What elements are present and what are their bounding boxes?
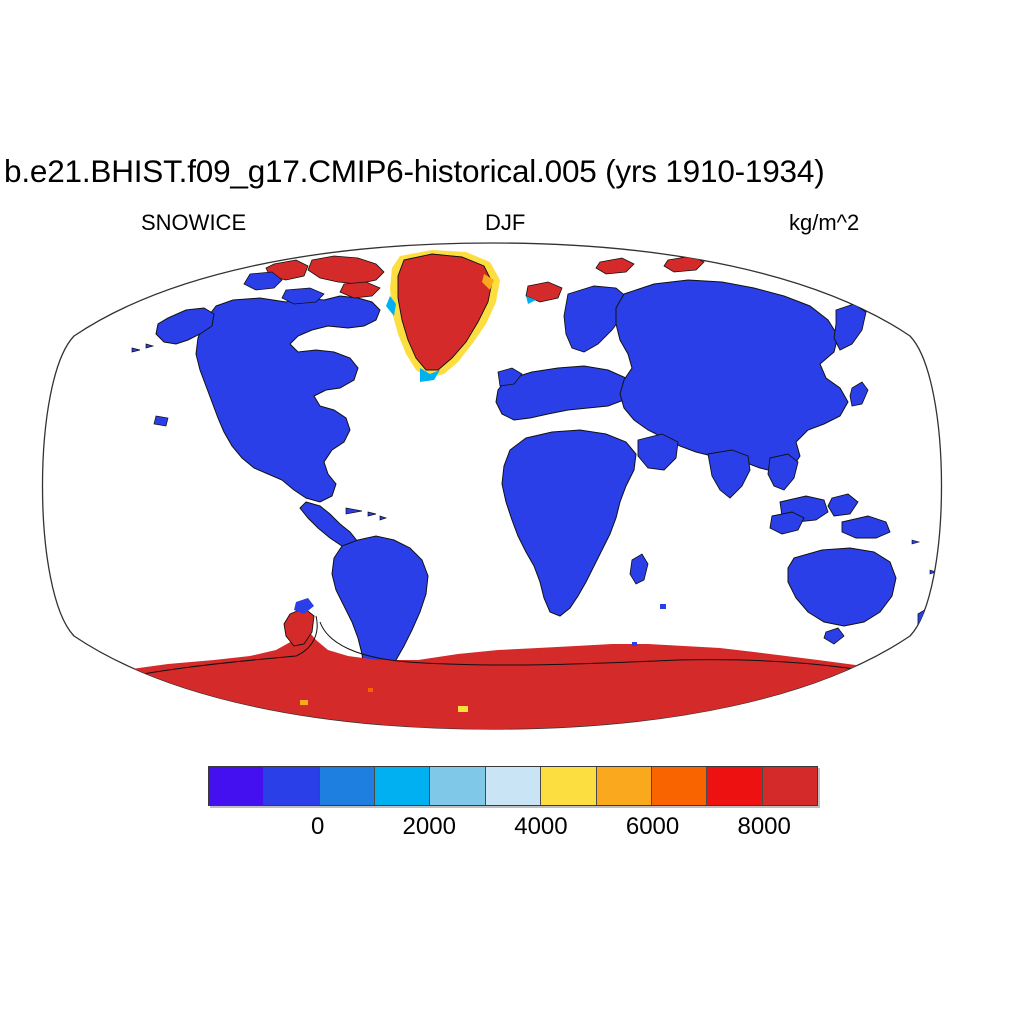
figure-root: b.e21.BHIST.f09_g17.CMIP6-historical.005… xyxy=(0,0,1024,1024)
colorbar-cell-7[interactable] xyxy=(597,767,652,805)
colorbar-cell-3[interactable] xyxy=(375,767,430,805)
colorbar-cell-4[interactable] xyxy=(430,767,485,805)
colorbar-tick-labels: 02000400060008000 xyxy=(206,812,820,846)
colorbar-tick-2: 4000 xyxy=(514,812,567,842)
colorbar-cell-0[interactable] xyxy=(209,767,264,805)
colorbar-cell-2[interactable] xyxy=(320,767,375,805)
colorbar-cell-9[interactable] xyxy=(707,767,762,805)
colorbar-tick-1: 2000 xyxy=(403,812,456,842)
world-map xyxy=(28,240,956,732)
colorbar-tick-0: 0 xyxy=(311,812,324,842)
colorbar-cell-6[interactable] xyxy=(541,767,596,805)
colorbar-cell-5[interactable] xyxy=(486,767,541,805)
colorbar-cell-8[interactable] xyxy=(652,767,707,805)
map-canvas xyxy=(28,240,956,732)
colorbar-cells[interactable] xyxy=(208,766,818,806)
units-label: kg/m^2 xyxy=(789,210,859,236)
season-label: DJF xyxy=(485,210,525,236)
colorbar-cell-10[interactable] xyxy=(763,767,817,805)
colorbar xyxy=(206,764,820,808)
variable-label: SNOWICE xyxy=(141,210,246,236)
colorbar-cell-1[interactable] xyxy=(264,767,319,805)
page-title: b.e21.BHIST.f09_g17.CMIP6-historical.005… xyxy=(4,153,1020,189)
colorbar-tick-3: 6000 xyxy=(626,812,679,842)
region-hawaii xyxy=(154,416,168,426)
colorbar-tick-4: 8000 xyxy=(737,812,790,842)
